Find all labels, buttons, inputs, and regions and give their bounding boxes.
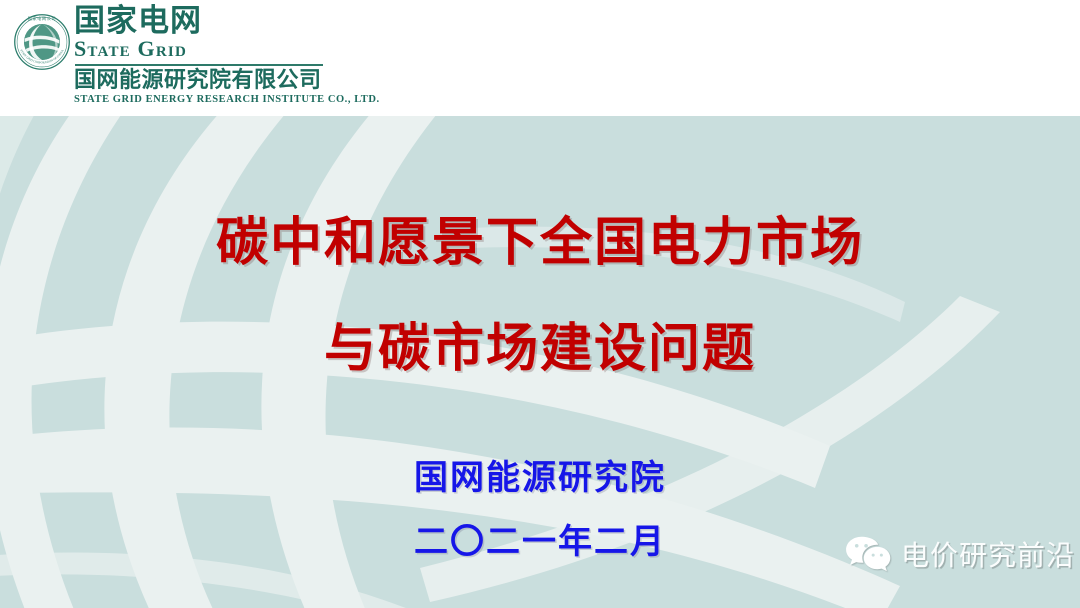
slide-affiliation: 国网能源研究院 [0,450,1080,499]
slide-title-line-2: 与碳市场建设问题 [0,306,1080,381]
header-divider [75,64,323,66]
presentation-title-slide: 国家电网公司 STATE GRID CORPORATION OF CHINA 国… [0,0,1080,608]
slide-header: 国家电网公司 STATE GRID CORPORATION OF CHINA 国… [0,0,1080,116]
sub-brand-block: 国网能源研究院有限公司 STATE GRID ENERGY RESEARCH I… [74,69,574,105]
institute-name-cn: 国网能源研究院有限公司 [74,69,574,93]
wechat-icon [845,535,891,573]
wechat-account-label: 电价研究前沿 [901,534,1075,574]
svg-text:国家电网公司: 国家电网公司 [28,15,56,21]
brand-name-en: State Grid [74,37,494,60]
slide-title-line-1: 碳中和愿景下全国电力市场 [0,200,1080,275]
institute-name-en: STATE GRID ENERGY RESEARCH INSTITUTE CO.… [74,94,574,106]
state-grid-globe-emblem-icon: 国家电网公司 STATE GRID CORPORATION OF CHINA [13,13,71,71]
wechat-watermark: 电价研究前沿 [845,534,1075,574]
brand-block: 国家电网 State Grid [74,6,494,60]
slide-body: 碳中和愿景下全国电力市场 与碳市场建设问题 国网能源研究院 二〇二一年二月 电价… [0,116,1080,608]
brand-name-cn: 国家电网 [74,6,494,38]
